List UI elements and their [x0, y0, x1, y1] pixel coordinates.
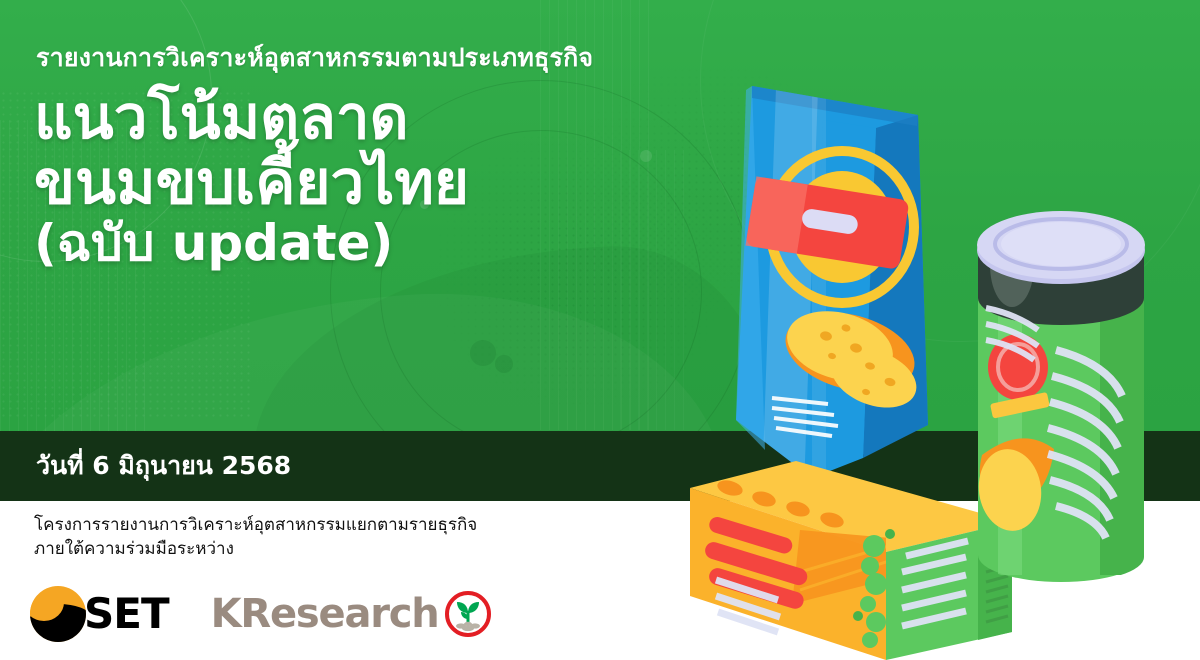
page-title-line-3: (ฉบับ update) — [34, 216, 734, 270]
snack-box-speck-2 — [853, 611, 863, 621]
collaboration-note-line-2: ภายใต้ความร่วมมือระหว่าง — [34, 537, 477, 561]
snack-packaging-illustration — [660, 60, 1200, 660]
kresearch-logo[interactable]: KResearch — [211, 589, 493, 639]
chip-can-lid-inner — [1001, 222, 1121, 266]
set-wordmark: SET — [84, 593, 169, 635]
chip-can — [974, 211, 1148, 582]
collaboration-note: โครงการรายงานการวิเคราะห์อุตสาหกรรมแยกตา… — [34, 513, 477, 561]
snack-box — [690, 461, 1012, 660]
page-title: แนวโน้มตลาด ขนมขบเคี้ยวไทย (ฉบับ update) — [34, 86, 734, 270]
publish-date: วันที่ 6 มิถุนายน 2568 — [36, 446, 291, 486]
kresearch-seedling-icon — [443, 589, 493, 639]
partner-logos: SET KResearch — [30, 586, 493, 642]
page-title-line-1: แนวโน้มตลาด — [34, 86, 734, 151]
set-sun-wave-icon — [30, 586, 86, 642]
kresearch-wordmark: KResearch — [211, 594, 439, 634]
chip-bag — [736, 69, 928, 490]
set-logo[interactable]: SET — [30, 586, 169, 642]
collaboration-note-line-1: โครงการรายงานการวิเคราะห์อุตสาหกรรมแยกตา… — [34, 513, 477, 537]
report-kicker: รายงานการวิเคราะห์อุตสาหกรรมตามประเภทธุร… — [36, 38, 593, 78]
chip-bag-gloss-stripe-2 — [812, 70, 826, 490]
chip-bag-red-banner-highlight — [745, 176, 807, 253]
page-title-line-2: ขนมขบเคี้ยวไทย — [34, 151, 734, 216]
snack-box-speck-1 — [885, 529, 895, 539]
report-cover: รายงานการวิเคราะห์อุตสาหกรรมตามประเภทธุร… — [0, 0, 1200, 660]
